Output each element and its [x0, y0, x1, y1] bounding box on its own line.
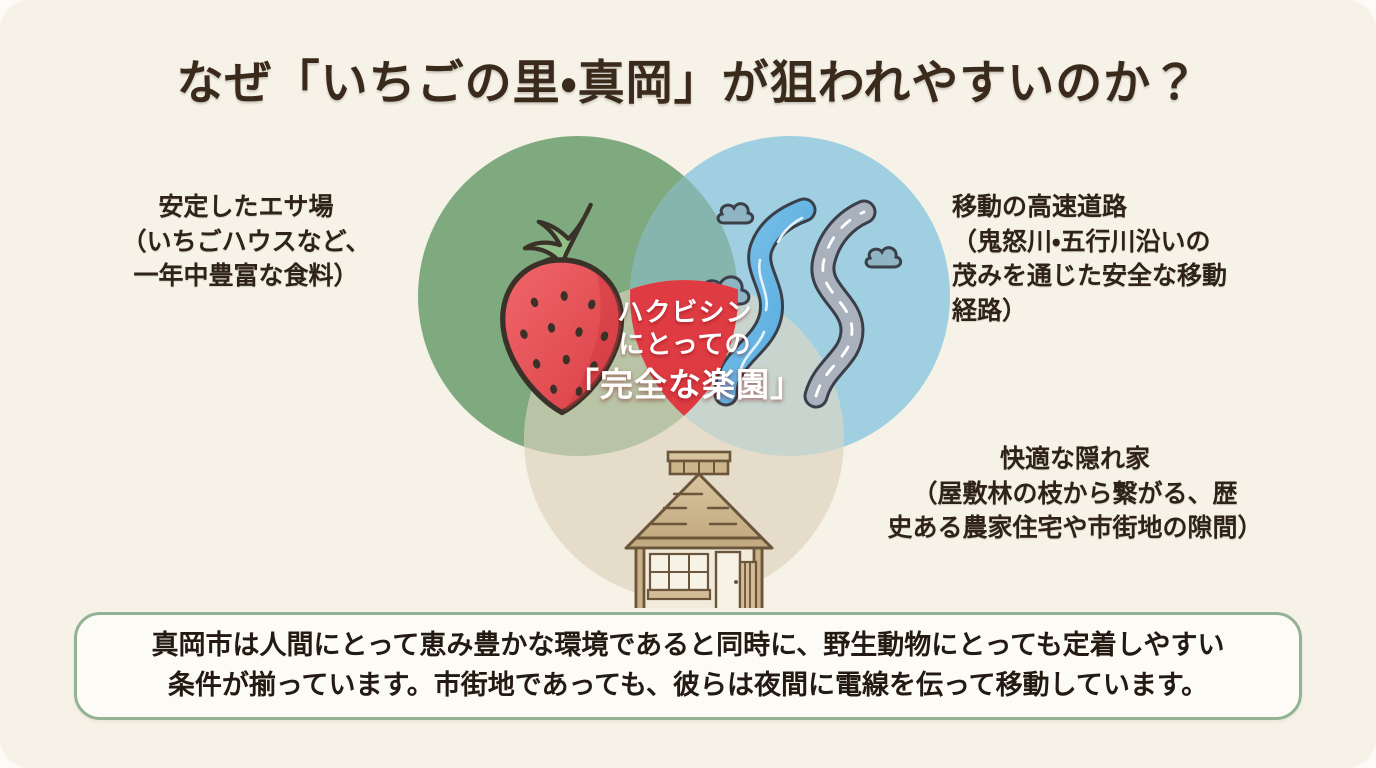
label-stable-food-source: 安定したエサ場 （いちごハウスなど、 一年中豊富な食料）	[60, 190, 432, 294]
label-movement-highway: 移動の高速道路 （鬼怒川・五行川沿いの 茂みを通じた安全な移動 経路）	[952, 190, 1332, 328]
label-comfortable-hideout: 快適な隠れ家 （屋敷林の枝から繋がる、歴 史ある農家住宅や市街地の隙間）	[860, 442, 1290, 546]
caption-line-1: 真岡市は人間にとって恵み豊かな環境であると同時に、野生動物にとっても定着しやすい	[152, 626, 1225, 667]
caption-line-2: 条件が揃っています。市街地であっても、彼らは夜間に電線を伝って移動しています。	[168, 666, 1208, 707]
summary-caption-box: 真岡市は人間にとって恵み豊かな環境であると同時に、野生動物にとっても定着しやすい…	[74, 612, 1302, 720]
infographic-page: なぜ「いちごの里・真岡」が狙われやすいのか？	[0, 0, 1376, 768]
page-title: なぜ「いちごの里・真岡」が狙われやすいのか？	[0, 44, 1376, 113]
